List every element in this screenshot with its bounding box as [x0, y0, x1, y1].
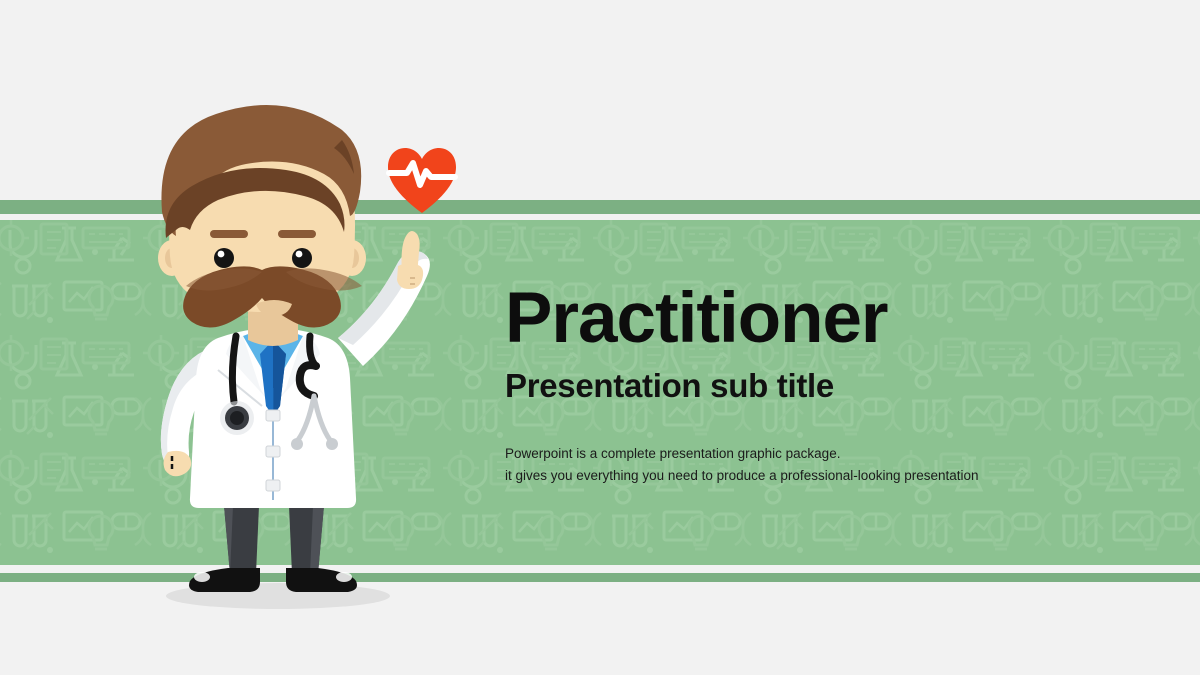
character-head [158, 105, 366, 328]
slide-text-block: Practitioner Presentation sub title Powe… [505, 282, 1125, 487]
presentation-slide: Practitioner Presentation sub title Powe… [0, 0, 1200, 675]
page-title: Practitioner [505, 282, 1125, 356]
body-line-2: it gives you everything you need to prod… [505, 465, 1125, 487]
body-line-1: Powerpoint is a complete presentation gr… [505, 443, 1125, 465]
page-body-text: Powerpoint is a complete presentation gr… [505, 443, 1125, 487]
character-lab-coat [190, 328, 356, 508]
page-subtitle: Presentation sub title [505, 368, 1125, 404]
doctor-practitioner-character [110, 88, 440, 618]
